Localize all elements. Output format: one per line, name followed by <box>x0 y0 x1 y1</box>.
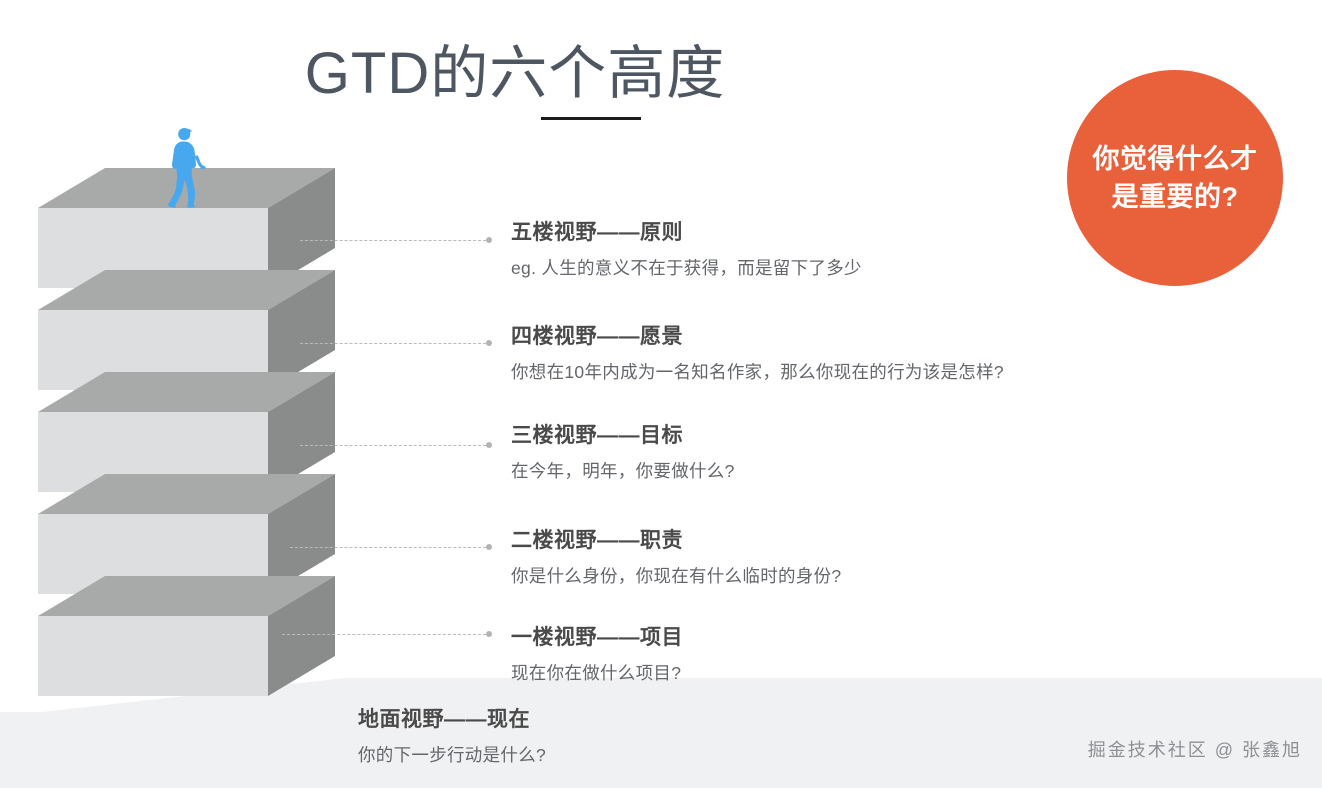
level-item-floor-3: 三楼视野——目标 在今年，明年，你要做什么? <box>511 419 735 483</box>
level-item-floor-2: 二楼视野——职责 你是什么身份，你现在有什么临时的身份? <box>511 524 841 588</box>
connector-dot-2 <box>486 544 492 550</box>
level-desc: 现在你在做什么项目? <box>511 660 683 685</box>
connector-line-3 <box>300 445 486 446</box>
slide-canvas: GTD的六个高度 你觉得什么才是重要的? <box>0 0 1322 788</box>
level-title: 四楼视野——愿景 <box>511 320 1004 350</box>
level-desc: eg. 人生的意义不在于获得，而是留下了多少 <box>511 255 862 280</box>
title-underline <box>541 117 641 120</box>
connector-line-1 <box>282 634 486 635</box>
level-item-floor-4: 四楼视野——愿景 你想在10年内成为一名知名作家，那么你现在的行为该是怎样? <box>511 320 1004 384</box>
level-title: 一楼视野——项目 <box>511 621 683 651</box>
watermark: 掘金技术社区 @ 张鑫旭 <box>1088 736 1302 762</box>
block-front-face <box>38 616 268 696</box>
level-desc: 在今年，明年，你要做什么? <box>511 458 735 483</box>
connector-dot-5 <box>486 237 492 243</box>
connector-line-4 <box>300 343 486 344</box>
level-title: 地面视野——现在 <box>358 703 546 733</box>
connector-line-5 <box>300 240 486 241</box>
walking-person-icon <box>164 126 206 210</box>
level-item-floor-5: 五楼视野——原则 eg. 人生的意义不在于获得，而是留下了多少 <box>511 216 862 280</box>
level-title: 五楼视野——原则 <box>511 216 862 246</box>
level-item-floor-1: 一楼视野——项目 现在你在做什么项目? <box>511 621 683 685</box>
level-desc: 你是什么身份，你现在有什么临时的身份? <box>511 563 841 588</box>
tower-block-1 <box>0 576 300 696</box>
highlight-badge-text: 你觉得什么才是重要的? <box>1085 140 1265 217</box>
highlight-badge: 你觉得什么才是重要的? <box>1067 70 1283 286</box>
level-title: 二楼视野——职责 <box>511 524 841 554</box>
level-item-floor-ground: 地面视野——现在 你的下一步行动是什么? <box>358 703 546 767</box>
level-desc: 你想在10年内成为一名知名作家，那么你现在的行为该是怎样? <box>511 359 1004 384</box>
level-desc: 你的下一步行动是什么? <box>358 742 546 767</box>
connector-line-2 <box>290 547 486 548</box>
connector-dot-4 <box>486 340 492 346</box>
connector-dot-3 <box>486 442 492 448</box>
tower-stack <box>0 0 400 720</box>
level-title: 三楼视野——目标 <box>511 419 735 449</box>
connector-dot-1 <box>486 631 492 637</box>
